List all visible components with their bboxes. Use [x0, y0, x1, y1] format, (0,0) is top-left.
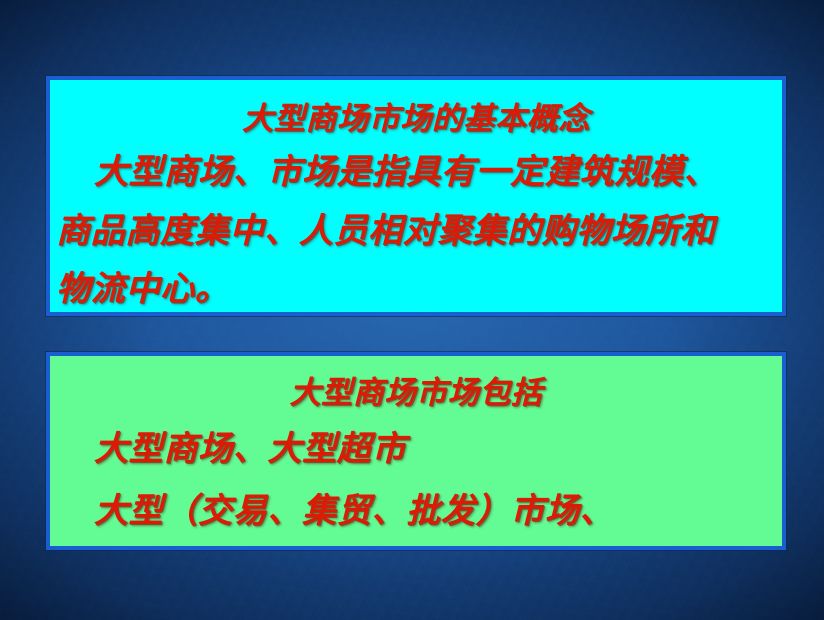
concept-definition-box: 大型商场市场的基本概念 大型商场、市场是指具有一定建筑规模、 商品高度集中、人员… [46, 76, 786, 316]
concept-box-line-2: 商品高度集中、人员相对聚集的购物场所和 [56, 214, 715, 248]
market-types-line-2: 大型（交易、集贸、批发）市场、 [94, 494, 614, 528]
presentation-slide: 大型商场市场的基本概念 大型商场、市场是指具有一定建筑规模、 商品高度集中、人员… [0, 0, 824, 620]
market-types-box-title: 大型商场市场包括 [50, 378, 782, 409]
concept-box-line-1: 大型商场、市场是指具有一定建筑规模、 [94, 155, 718, 189]
concept-box-line-3: 物流中心。 [56, 272, 229, 306]
concept-box-title: 大型商场市场的基本概念 [50, 104, 782, 135]
market-types-box: 大型商场市场包括 大型商场、大型超市 大型（交易、集贸、批发）市场、 [46, 352, 786, 550]
market-types-line-1: 大型商场、大型超市 [94, 432, 406, 466]
